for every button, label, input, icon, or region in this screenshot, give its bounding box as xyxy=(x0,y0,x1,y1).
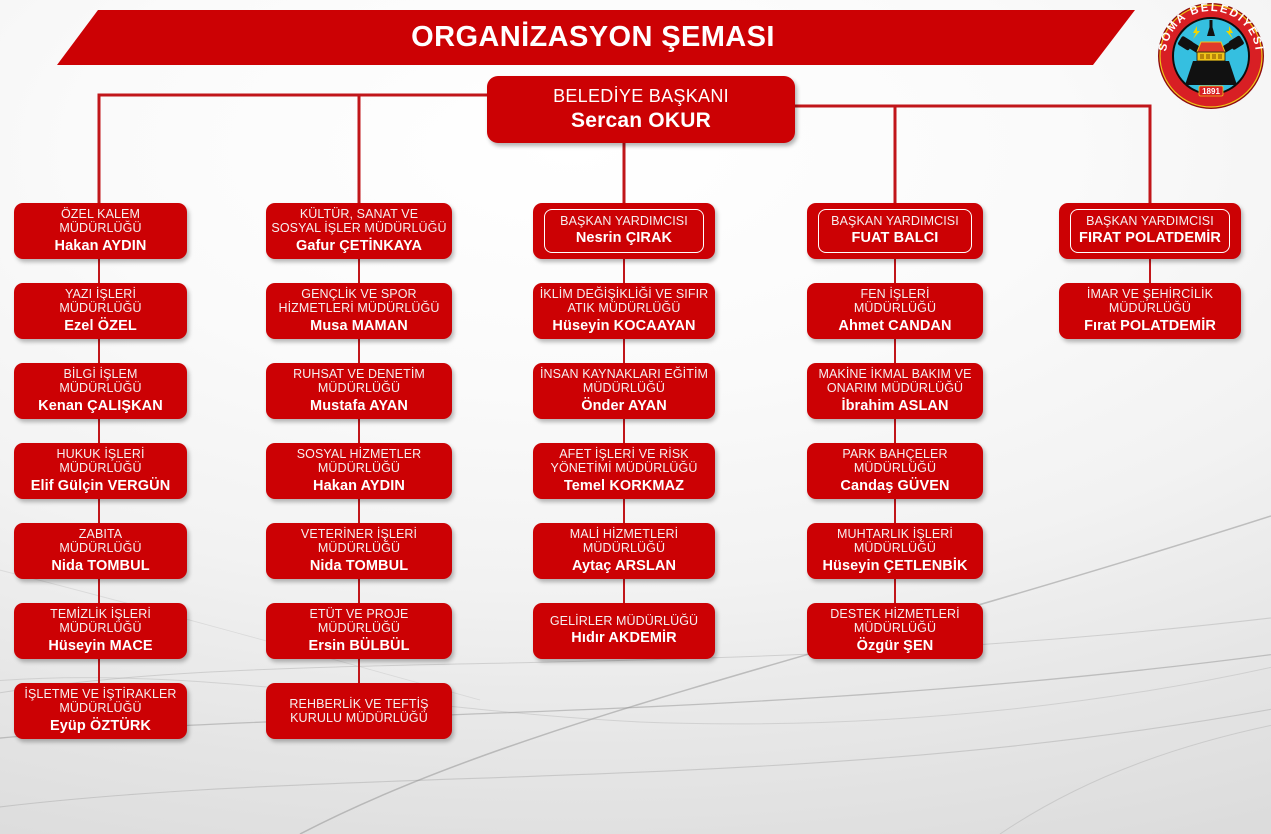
department-node[interactable]: MALİ HİZMETLERİMÜDÜRLÜĞÜAytaç ARSLAN xyxy=(533,523,715,579)
department-node[interactable]: İNSAN KAYNAKLARI EĞİTİMMÜDÜRLÜĞÜÖnder AY… xyxy=(533,363,715,419)
president-title: BELEDİYE BAŞKANI xyxy=(553,86,729,107)
department-node[interactable]: FEN İŞLERİMÜDÜRLÜĞÜAhmet CANDAN xyxy=(807,283,983,339)
deputy-mayor-node[interactable]: BAŞKAN YARDIMCISIFIRAT POLATDEMİR xyxy=(1059,203,1241,259)
president-node[interactable]: BELEDİYE BAŞKANI Sercan OKUR xyxy=(487,76,795,143)
department-title: ZABITAMÜDÜRLÜĞÜ xyxy=(59,527,141,556)
person-name: Hüseyin KOCAAYAN xyxy=(552,318,695,335)
department-title: KÜLTÜR, SANAT VESOSYAL İŞLER MÜDÜRLÜĞÜ xyxy=(271,207,446,236)
person-name: Özgür ŞEN xyxy=(857,638,934,655)
person-name: Aytaç ARSLAN xyxy=(572,558,676,575)
person-name: Gafur ÇETİNKAYA xyxy=(296,238,422,255)
person-name: Ersin BÜLBÜL xyxy=(308,638,409,655)
person-name: Elif Gülçin VERGÜN xyxy=(31,478,171,495)
soma-belediyesi-logo-icon: 1891 SOMA BELEDİYESİ xyxy=(1157,2,1265,110)
department-node[interactable]: YAZI İŞLERİMÜDÜRLÜĞÜEzel ÖZEL xyxy=(14,283,187,339)
org-column-2: KÜLTÜR, SANAT VESOSYAL İŞLER MÜDÜRLÜĞÜGa… xyxy=(266,203,452,763)
department-title: SOSYAL HİZMETLERMÜDÜRLÜĞÜ xyxy=(297,447,422,476)
org-chart-page: ORGANİZASYON ŞEMASI xyxy=(0,0,1271,834)
department-node[interactable]: RUHSAT VE DENETİMMÜDÜRLÜĞÜMustafa AYAN xyxy=(266,363,452,419)
department-node[interactable]: HUKUK İŞLERİMÜDÜRLÜĞÜElif Gülçin VERGÜN xyxy=(14,443,187,499)
department-title: ETÜT VE PROJEMÜDÜRLÜĞÜ xyxy=(309,607,408,636)
department-title: MALİ HİZMETLERİMÜDÜRLÜĞÜ xyxy=(570,527,678,556)
person-name: İbrahim ASLAN xyxy=(841,398,948,415)
person-name: Ahmet CANDAN xyxy=(838,318,951,335)
department-node[interactable]: ZABITAMÜDÜRLÜĞÜNida TOMBUL xyxy=(14,523,187,579)
department-title: İNSAN KAYNAKLARI EĞİTİMMÜDÜRLÜĞÜ xyxy=(540,367,708,396)
department-node[interactable]: İKLİM DEĞİŞİKLİĞİ VE SIFIRATIK MÜDÜRLÜĞÜ… xyxy=(533,283,715,339)
person-name: Önder AYAN xyxy=(581,398,667,415)
department-title: BAŞKAN YARDIMCISI xyxy=(831,214,959,228)
department-title: İMAR VE ŞEHİRCİLİKMÜDÜRLÜĞÜ xyxy=(1087,287,1213,316)
person-name: Temel KORKMAZ xyxy=(564,478,684,495)
department-title: HUKUK İŞLERİMÜDÜRLÜĞÜ xyxy=(56,447,144,476)
person-name: Kenan ÇALIŞKAN xyxy=(38,398,163,415)
department-node[interactable]: ÖZEL KALEMMÜDÜRLÜĞÜHakan AYDIN xyxy=(14,203,187,259)
department-title: TEMİZLİK İŞLERİMÜDÜRLÜĞÜ xyxy=(50,607,151,636)
person-name: Candaş GÜVEN xyxy=(840,478,949,495)
department-node[interactable]: BİLGİ İŞLEMMÜDÜRLÜĞÜKenan ÇALIŞKAN xyxy=(14,363,187,419)
deputy-inner-frame: BAŞKAN YARDIMCISIFIRAT POLATDEMİR xyxy=(1070,209,1230,254)
person-name: Musa MAMAN xyxy=(310,318,408,335)
person-name: Hakan AYDIN xyxy=(55,238,147,255)
department-node[interactable]: REHBERLİK VE TEFTİŞKURULU MÜDÜRLÜĞÜ xyxy=(266,683,452,739)
org-column-5: BAŞKAN YARDIMCISIFIRAT POLATDEMİRİMAR VE… xyxy=(1059,203,1241,363)
person-name: Nida TOMBUL xyxy=(51,558,149,575)
department-node[interactable]: MUHTARLIK İŞLERİMÜDÜRLÜĞÜHüseyin ÇETLENB… xyxy=(807,523,983,579)
department-title: BİLGİ İŞLEMMÜDÜRLÜĞÜ xyxy=(59,367,141,396)
person-name: FUAT BALCI xyxy=(852,230,939,247)
department-title: İŞLETME VE İŞTİRAKLERMÜDÜRLÜĞÜ xyxy=(24,687,176,716)
person-name: Hıdır AKDEMİR xyxy=(571,630,676,647)
department-node[interactable]: ETÜT VE PROJEMÜDÜRLÜĞÜErsin BÜLBÜL xyxy=(266,603,452,659)
department-node[interactable]: KÜLTÜR, SANAT VESOSYAL İŞLER MÜDÜRLÜĞÜGa… xyxy=(266,203,452,259)
department-title: YAZI İŞLERİMÜDÜRLÜĞÜ xyxy=(59,287,141,316)
person-name: Hüseyin MACE xyxy=(48,638,152,655)
deputy-inner-frame: BAŞKAN YARDIMCISINesrin ÇIRAK xyxy=(544,209,704,254)
page-title-banner: ORGANİZASYON ŞEMASI xyxy=(57,10,1135,65)
org-column-4: BAŞKAN YARDIMCISIFUAT BALCIFEN İŞLERİMÜD… xyxy=(807,203,983,683)
department-node[interactable]: TEMİZLİK İŞLERİMÜDÜRLÜĞÜHüseyin MACE xyxy=(14,603,187,659)
person-name: Nesrin ÇIRAK xyxy=(576,230,672,247)
department-node[interactable]: GENÇLİK VE SPORHİZMETLERİ MÜDÜRLÜĞÜMusa … xyxy=(266,283,452,339)
person-name: Hakan AYDIN xyxy=(313,478,405,495)
department-title: İKLİM DEĞİŞİKLİĞİ VE SIFIRATIK MÜDÜRLÜĞÜ xyxy=(540,287,709,316)
department-title: BAŞKAN YARDIMCISI xyxy=(560,214,688,228)
deputy-mayor-node[interactable]: BAŞKAN YARDIMCISIFUAT BALCI xyxy=(807,203,983,259)
department-title: PARK BAHÇELERMÜDÜRLÜĞÜ xyxy=(842,447,947,476)
department-node[interactable]: İMAR VE ŞEHİRCİLİKMÜDÜRLÜĞÜFırat POLATDE… xyxy=(1059,283,1241,339)
department-node[interactable]: AFET İŞLERİ VE RİSKYÖNETİMİ MÜDÜRLÜĞÜTem… xyxy=(533,443,715,499)
department-node[interactable]: PARK BAHÇELERMÜDÜRLÜĞÜCandaş GÜVEN xyxy=(807,443,983,499)
person-name: Eyüp ÖZTÜRK xyxy=(50,718,151,735)
person-name: Hüseyin ÇETLENBİK xyxy=(822,558,967,575)
department-title: FEN İŞLERİMÜDÜRLÜĞÜ xyxy=(854,287,936,316)
page-title: ORGANİZASYON ŞEMASI xyxy=(411,21,775,54)
department-node[interactable]: SOSYAL HİZMETLERMÜDÜRLÜĞÜHakan AYDIN xyxy=(266,443,452,499)
department-title: AFET İŞLERİ VE RİSKYÖNETİMİ MÜDÜRLÜĞÜ xyxy=(551,447,698,476)
department-title: DESTEK HİZMETLERİMÜDÜRLÜĞÜ xyxy=(830,607,960,636)
department-title: GENÇLİK VE SPORHİZMETLERİ MÜDÜRLÜĞÜ xyxy=(278,287,439,316)
person-name: Fırat POLATDEMİR xyxy=(1084,318,1216,335)
president-name: Sercan OKUR xyxy=(571,108,711,133)
person-name: Ezel ÖZEL xyxy=(64,318,137,335)
department-title: BAŞKAN YARDIMCISI xyxy=(1086,214,1214,228)
department-title: ÖZEL KALEMMÜDÜRLÜĞÜ xyxy=(59,207,141,236)
department-title: RUHSAT VE DENETİMMÜDÜRLÜĞÜ xyxy=(293,367,425,396)
department-title: MUHTARLIK İŞLERİMÜDÜRLÜĞÜ xyxy=(837,527,953,556)
department-node[interactable]: MAKİNE İKMAL BAKIM VEONARIM MÜDÜRLÜĞÜİbr… xyxy=(807,363,983,419)
org-column-1: ÖZEL KALEMMÜDÜRLÜĞÜHakan AYDINYAZI İŞLER… xyxy=(14,203,187,763)
department-title: MAKİNE İKMAL BAKIM VEONARIM MÜDÜRLÜĞÜ xyxy=(818,367,971,396)
department-title: GELİRLER MÜDÜRLÜĞÜ xyxy=(550,614,698,628)
department-title: VETERİNER İŞLERİMÜDÜRLÜĞÜ xyxy=(301,527,417,556)
org-column-3: BAŞKAN YARDIMCISINesrin ÇIRAKİKLİM DEĞİŞ… xyxy=(533,203,715,683)
department-title: REHBERLİK VE TEFTİŞKURULU MÜDÜRLÜĞÜ xyxy=(289,697,428,726)
deputy-mayor-node[interactable]: BAŞKAN YARDIMCISINesrin ÇIRAK xyxy=(533,203,715,259)
logo-year: 1891 xyxy=(1202,87,1220,96)
person-name: FIRAT POLATDEMİR xyxy=(1079,230,1221,247)
person-name: Mustafa AYAN xyxy=(310,398,408,415)
person-name: Nida TOMBUL xyxy=(310,558,408,575)
department-node[interactable]: GELİRLER MÜDÜRLÜĞÜHıdır AKDEMİR xyxy=(533,603,715,659)
department-node[interactable]: VETERİNER İŞLERİMÜDÜRLÜĞÜNida TOMBUL xyxy=(266,523,452,579)
department-node[interactable]: DESTEK HİZMETLERİMÜDÜRLÜĞÜÖzgür ŞEN xyxy=(807,603,983,659)
deputy-inner-frame: BAŞKAN YARDIMCISIFUAT BALCI xyxy=(818,209,972,254)
department-node[interactable]: İŞLETME VE İŞTİRAKLERMÜDÜRLÜĞÜEyüp ÖZTÜR… xyxy=(14,683,187,739)
